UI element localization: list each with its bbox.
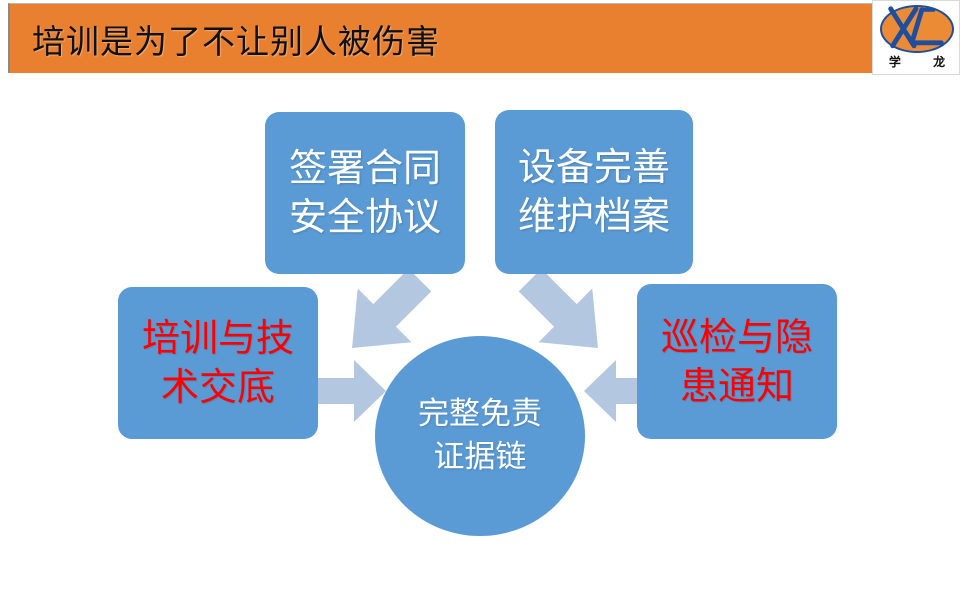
logo: 学 龙 xyxy=(872,0,960,75)
node-complete-liability-evidence-chain[interactable]: 完整免责 证据链 xyxy=(375,336,585,536)
node-inspection-hazard-notice[interactable]: 巡检与隐 患通知 xyxy=(637,284,837,439)
node-line-1: 设备完善 xyxy=(518,143,670,192)
node-equipment-maintenance-records[interactable]: 设备完善 维护档案 xyxy=(495,110,693,274)
node-training-technical-briefing[interactable]: 培训与技 术交底 xyxy=(118,287,318,439)
slide-canvas: 培训是为了不让别人被伤害 学 龙 xyxy=(0,0,960,600)
node-sign-contract-safety-agreement[interactable]: 签署合同 安全协议 xyxy=(265,112,465,274)
page-title: 培训是为了不让别人被伤害 xyxy=(32,15,440,63)
title-banner: 培训是为了不让别人被伤害 xyxy=(8,3,953,73)
node-line-2: 患通知 xyxy=(680,362,794,411)
node-line-1: 巡检与隐 xyxy=(661,313,813,362)
logo-subtitle: 学 龙 xyxy=(873,53,960,70)
center-line-2: 证据链 xyxy=(434,436,527,479)
logo-oval-shape xyxy=(880,5,954,53)
node-line-1: 签署合同 xyxy=(289,144,441,193)
node-line-1: 培训与技 xyxy=(142,314,294,363)
node-line-2: 术交底 xyxy=(161,363,275,412)
center-line-1: 完整免责 xyxy=(418,393,542,436)
node-line-2: 维护档案 xyxy=(518,192,670,241)
node-line-2: 安全协议 xyxy=(289,193,441,242)
